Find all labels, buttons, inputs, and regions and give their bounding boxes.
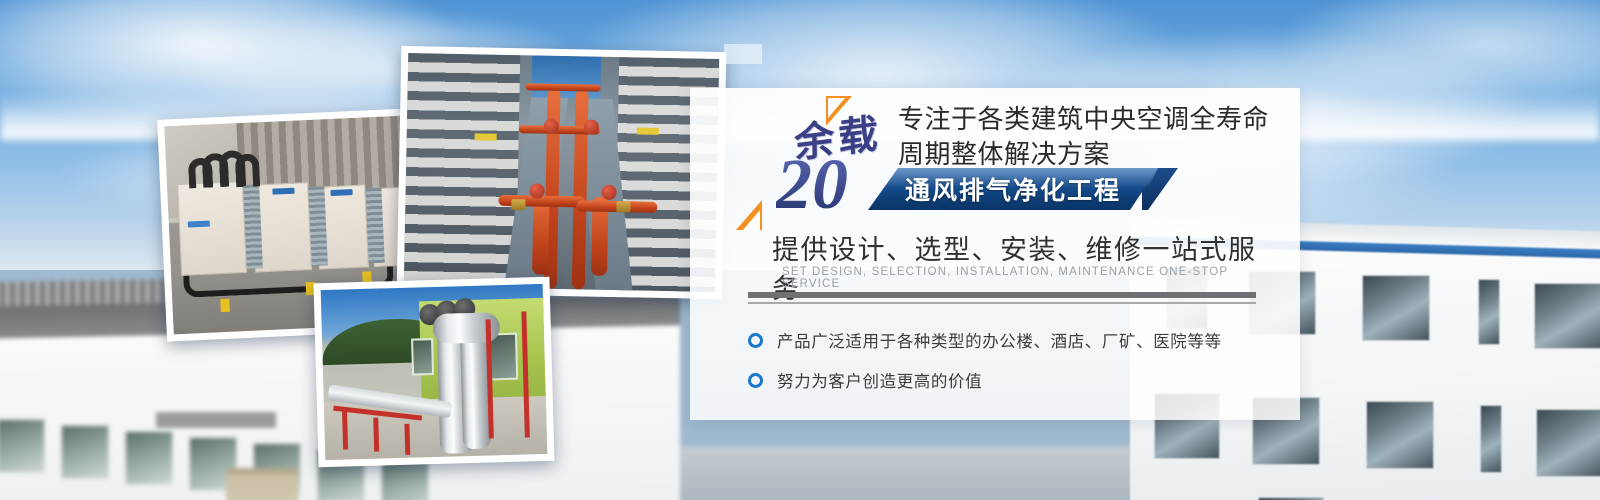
window [1480, 405, 1502, 473]
brass-fitting [511, 199, 525, 210]
ribbon-label: 通风排气净化工程 [868, 168, 1158, 210]
window [60, 424, 110, 480]
headline: 专注于各类建筑中央空调全寿命周期整体解决方案 [898, 102, 1290, 172]
wall-canopy [156, 412, 276, 428]
photo-chiller-piping [397, 46, 727, 299]
corner-arrow-icon [826, 96, 852, 126]
red-support-post [373, 418, 379, 452]
window [411, 338, 434, 376]
list-item-label: 产品广泛适用于各种类型的办公楼、酒店、厂矿、医院等等 [777, 328, 1222, 352]
red-support-post [404, 424, 410, 455]
red-pipe-cross [526, 83, 601, 91]
bullet-circle-icon [748, 333, 763, 348]
window [1534, 283, 1600, 349]
list-item-label: 努力为客户创造更高的价值 [777, 368, 982, 392]
valve-wheel [544, 119, 559, 134]
list-item: 努力为客户创造更高的价值 [748, 360, 1288, 400]
window [124, 430, 174, 486]
brand-logo [188, 220, 210, 227]
brass-fitting [617, 202, 631, 213]
yellow-label [475, 134, 497, 141]
sky-gap [532, 55, 601, 98]
subheadline-english: SET DESIGN, SELECTION, INSTALLATION, MAI… [782, 266, 1282, 290]
panel-accent-tab [724, 44, 762, 64]
divider-thick [748, 292, 1256, 298]
photo-rooftop-duct [313, 277, 554, 468]
service-ribbon: 通风排气净化工程 [868, 168, 1158, 210]
anniversary-number: 20 [776, 148, 848, 220]
condenser-grill [366, 187, 385, 263]
window [1366, 401, 1434, 469]
equipment-bank-left [404, 53, 520, 288]
window [0, 418, 46, 474]
brand-logo [272, 187, 294, 194]
refrigerant-hose [235, 153, 260, 187]
red-pipe-branch [532, 195, 550, 275]
pipe-clip [220, 298, 230, 311]
red-support-post [342, 412, 348, 450]
red-pipe-main [572, 89, 589, 290]
feature-bullet-list: 产品广泛适用于各种类型的办公楼、酒店、厂矿、医院等等 努力为客户创造更高的价值 [748, 320, 1288, 400]
list-item: 产品广泛适用于各种类型的办公楼、酒店、厂矿、医院等等 [748, 320, 1288, 360]
yellow-label [637, 127, 659, 134]
window [1362, 275, 1430, 341]
ac-unit [177, 181, 248, 275]
corner-arrow-icon [736, 200, 762, 230]
window [1478, 279, 1500, 345]
hvac-promo-banner: 余载 20 专注于各类建筑中央空调全寿命周期整体解决方案 通风排气净化工程 提供… [0, 0, 1600, 500]
roller-door [226, 468, 298, 500]
bullet-circle-icon [748, 373, 763, 388]
brand-logo [330, 189, 352, 196]
divider-thin [748, 302, 1256, 304]
content-panel: 余载 20 专注于各类建筑中央空调全寿命周期整体解决方案 通风排气净化工程 提供… [690, 88, 1300, 420]
window [1536, 409, 1600, 477]
